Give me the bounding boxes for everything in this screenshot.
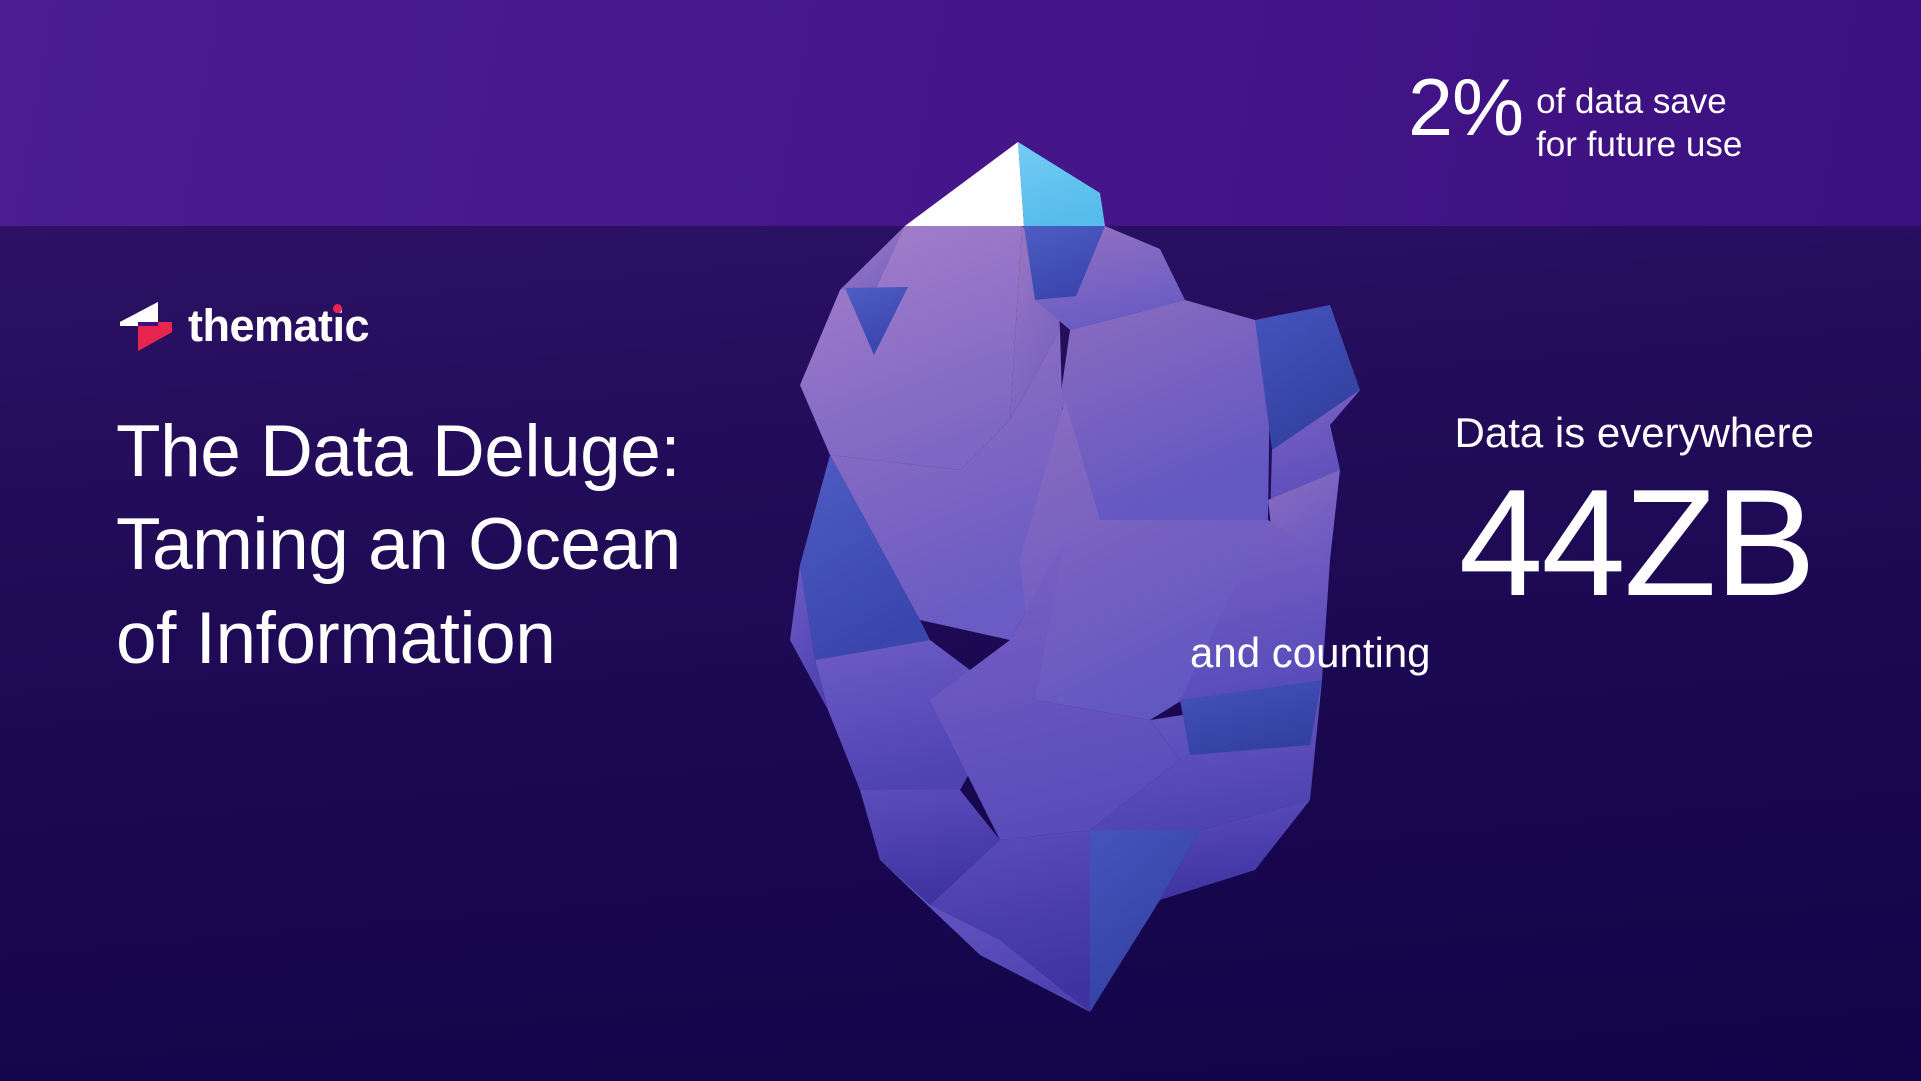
- stat-total-data: Data is everywhere 44ZB and counting: [1180, 410, 1814, 677]
- brand-wordmark: thematic: [188, 303, 369, 348]
- stat-saved-data-caption: of data save for future use: [1536, 70, 1742, 167]
- stat-total-data-value: 44ZB: [1180, 458, 1814, 628]
- infographic-canvas: thematic The Data Deluge: Taming an Ocea…: [0, 0, 1921, 1081]
- stat-total-data-kicker: Data is everywhere: [1180, 410, 1814, 456]
- stat-saved-data: 2% of data save for future use: [1408, 70, 1742, 167]
- page-title-line-3: of Information: [116, 592, 856, 685]
- page-title-line-1: The Data Deluge:: [116, 405, 856, 498]
- page-title: The Data Deluge: Taming an Ocean of Info…: [116, 405, 856, 685]
- page-title-line-2: Taming an Ocean: [116, 498, 856, 591]
- brand-logo[interactable]: thematic: [118, 296, 369, 354]
- logo-i-dot-icon: [333, 304, 342, 313]
- stat-saved-data-caption-line-2: for future use: [1536, 123, 1742, 166]
- stat-total-data-subtext: and counting: [1180, 630, 1814, 676]
- thematic-logo-mark-icon: [118, 296, 174, 354]
- stat-saved-data-value: 2%: [1408, 70, 1523, 148]
- stat-saved-data-caption-line-1: of data save: [1536, 80, 1742, 123]
